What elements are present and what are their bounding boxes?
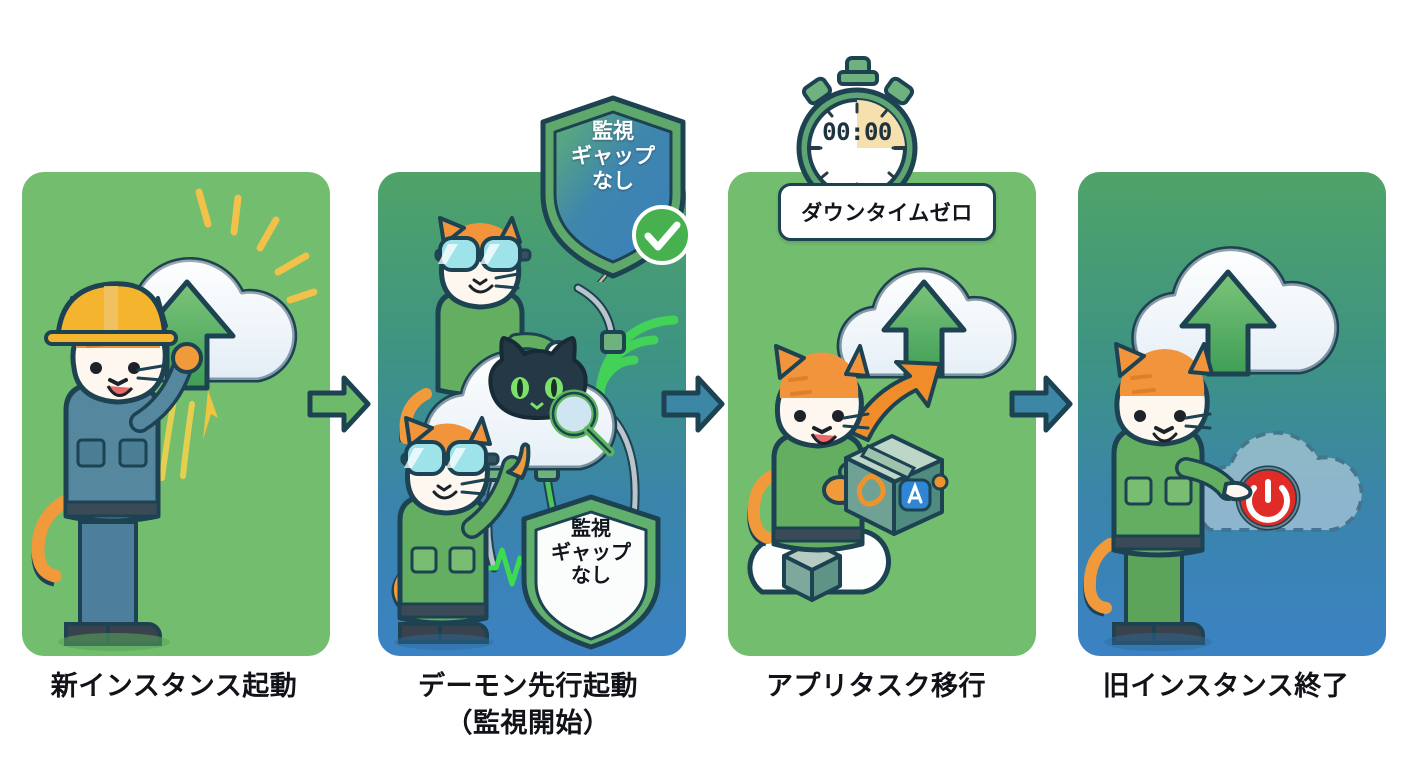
connector-arrow-2 — [660, 373, 726, 435]
caption-panel-3: アプリタスク移行 — [696, 668, 1056, 705]
operator-cat — [1086, 344, 1251, 651]
connector-arrow-3 — [1008, 373, 1074, 435]
panel-app-task-migration[interactable] — [728, 172, 1036, 656]
app-package-box — [846, 436, 947, 534]
panel-3-art — [728, 172, 1036, 656]
app-icon-blue — [900, 480, 930, 510]
panel-4-illustration — [1078, 172, 1386, 656]
panel-1-illustration — [22, 172, 330, 656]
caption-panel-4: 旧インスタンス終了 — [1046, 668, 1406, 705]
shield-badge-top: 監視 ギャップ なし — [533, 92, 693, 282]
hardhat-cat — [34, 284, 201, 651]
check-mark-icon — [631, 204, 693, 266]
panel-4-art — [1078, 172, 1386, 656]
connector-arrow-1 — [306, 373, 372, 435]
caption-line: アプリタスク移行 — [696, 668, 1056, 705]
downtime-zero-label: ダウンタイムゼロ — [801, 197, 973, 227]
shield-badge-bottom: 監視 ギャップ なし — [516, 492, 666, 652]
stopwatch-display: 00:00 — [787, 118, 927, 146]
caption-line: 旧インスタンス終了 — [1046, 668, 1406, 705]
caption-panel-2: デーモン先行起動 （監視開始） — [348, 668, 708, 741]
caption-subline: （監視開始） — [348, 705, 708, 742]
caption-line: デーモン先行起動 — [348, 668, 708, 705]
diagram-canvas: 監視 ギャップ なし 監視 ギャップ なし — [0, 0, 1408, 768]
caption-line: 新インスタンス起動 — [0, 668, 354, 705]
panel-old-instance-terminate[interactable] — [1078, 172, 1386, 656]
small-up-arrow — [203, 390, 218, 440]
caption-panel-1: 新インスタンス起動 — [0, 668, 354, 705]
panel-new-instance[interactable] — [22, 172, 330, 656]
panel-3-illustration — [728, 172, 1036, 656]
downtime-zero-chip: ダウンタイムゼロ — [778, 183, 996, 241]
shield-bottom-svg — [516, 492, 666, 652]
panel-1-art — [22, 172, 330, 656]
